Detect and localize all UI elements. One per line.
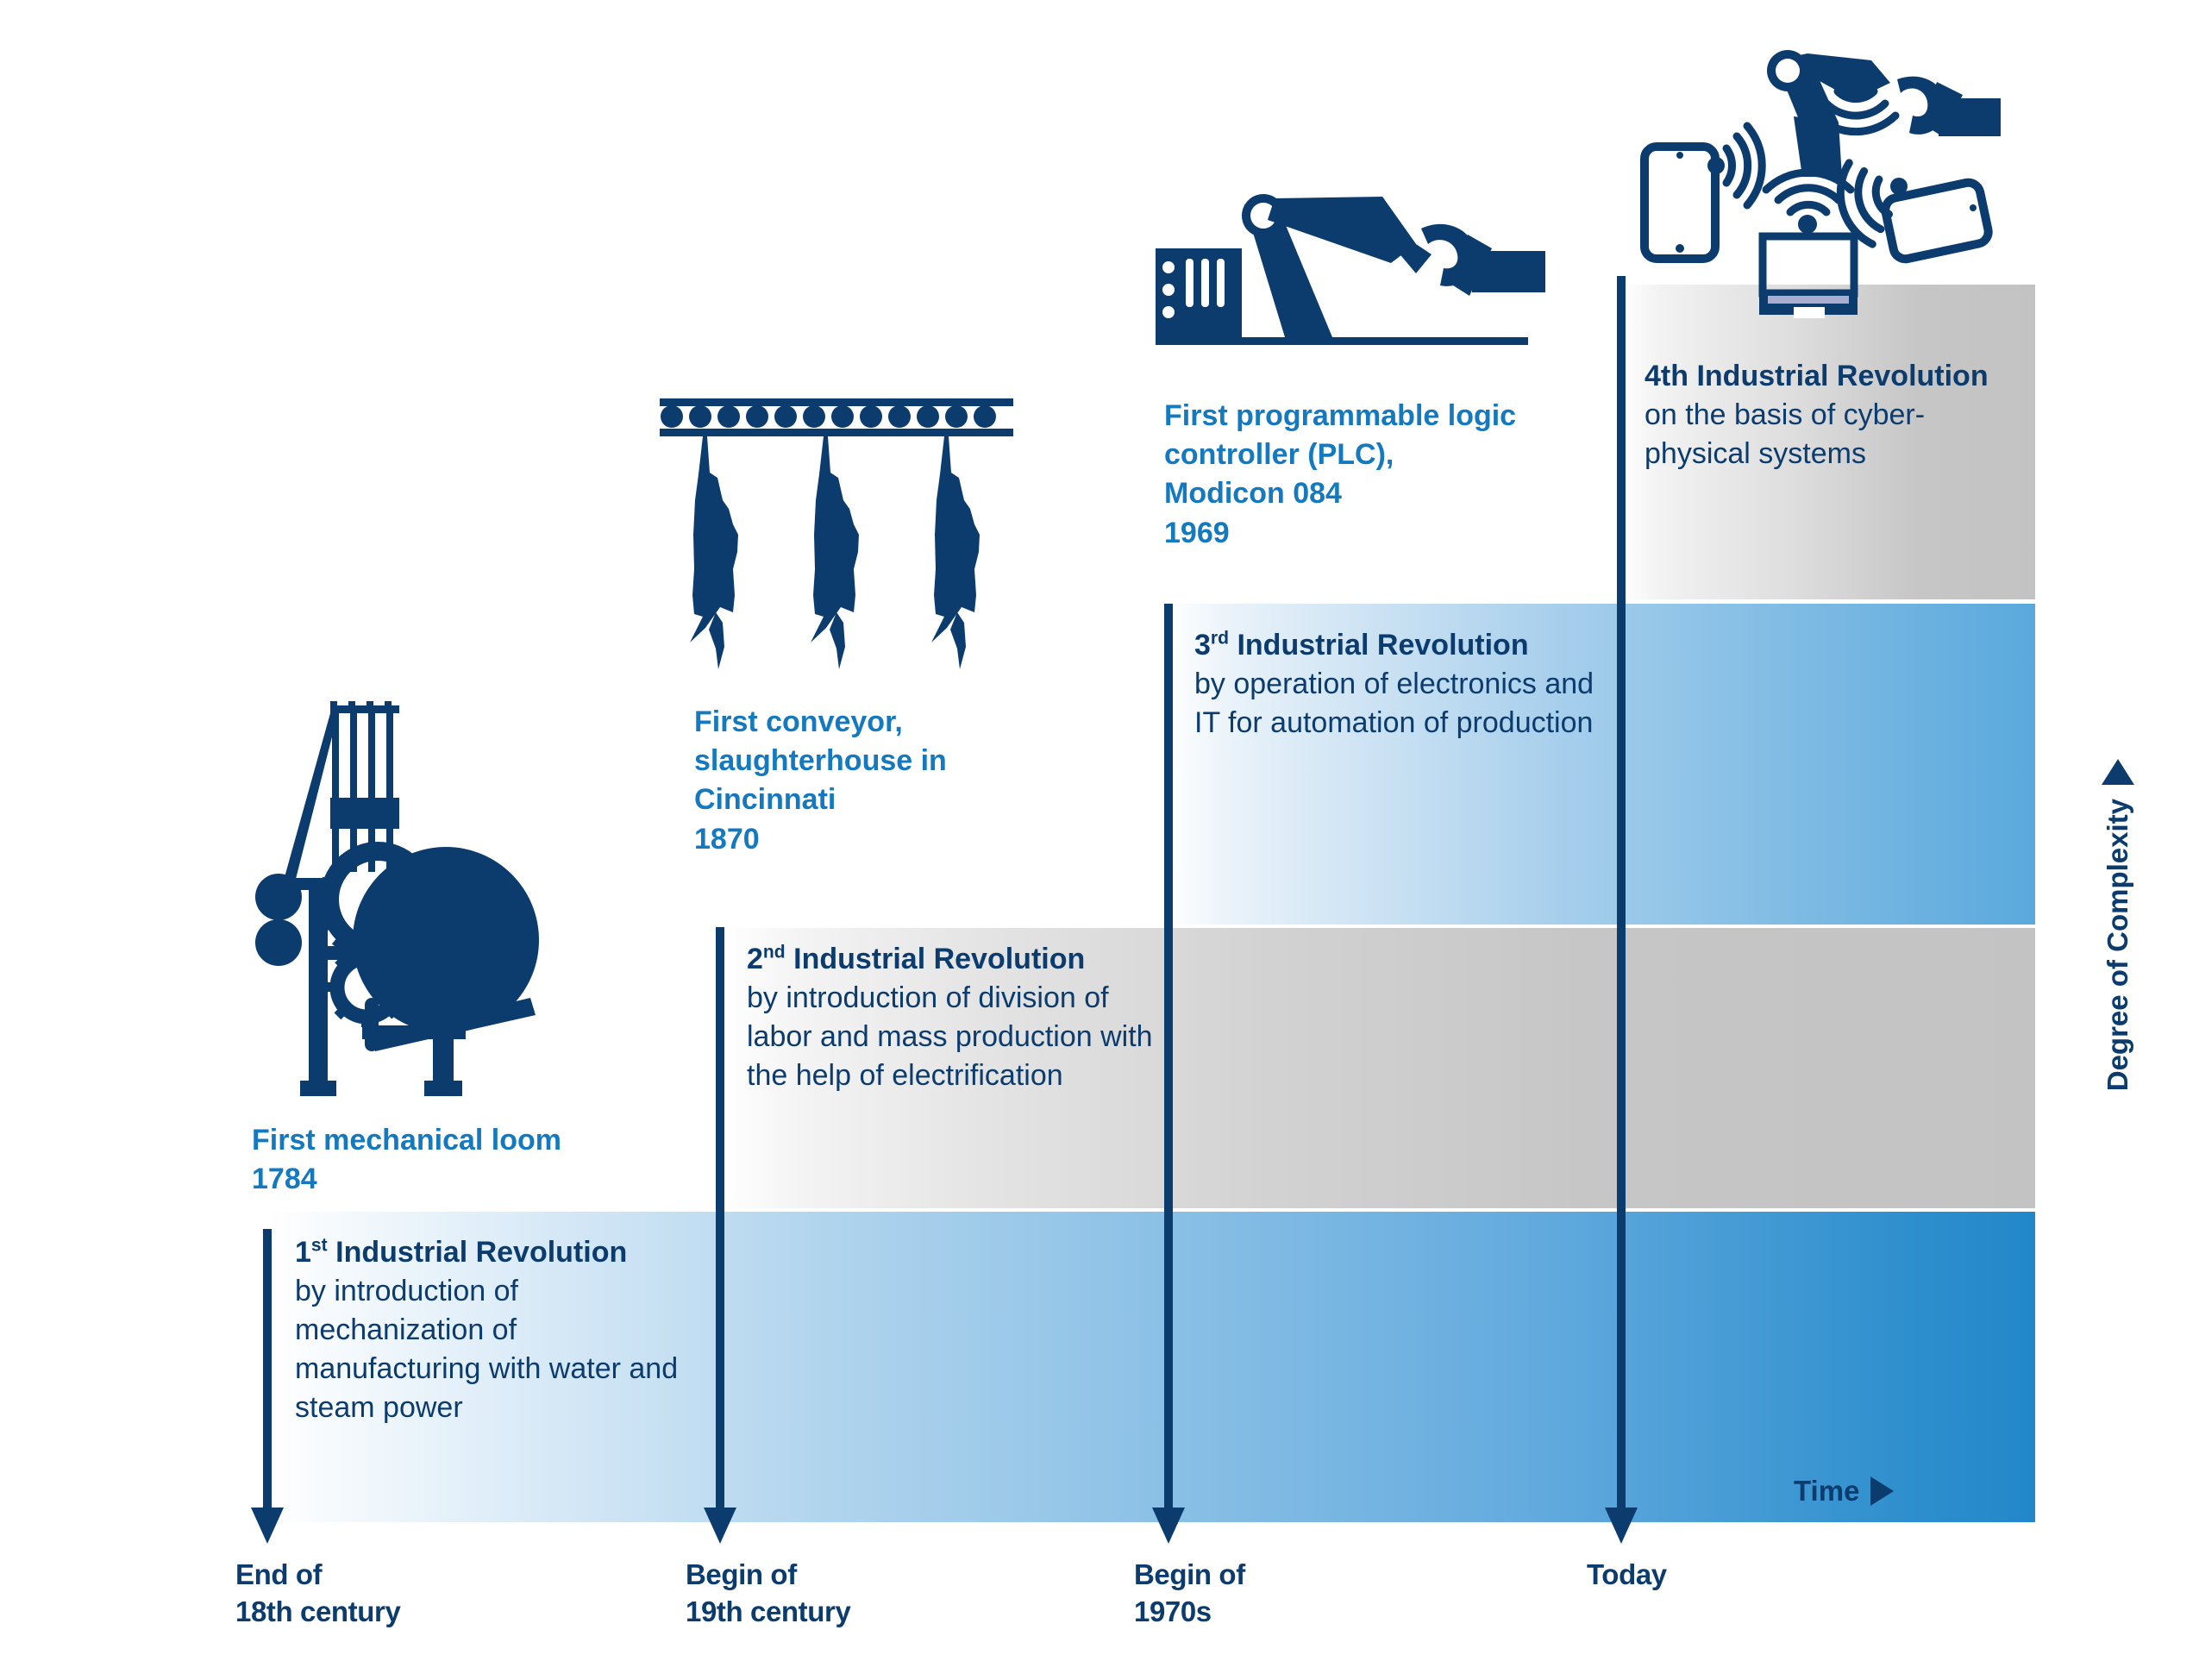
revolution-3-suffix: rd (1211, 629, 1229, 649)
complexity-axis-label: Degree of Complexity (2102, 759, 2134, 1091)
revolution-3-heading: 3rd Industrial Revolution (1194, 626, 1600, 665)
revolution-block-1: 1st Industrial Revolution by introductio… (295, 1233, 709, 1426)
axis-tick-1970s-line2: 1970s (1134, 1594, 1245, 1631)
arrow-head (1605, 1508, 1638, 1544)
event-label-plc-line2: controller (PLC), (1164, 436, 1595, 474)
revolution-4-heading-text: Industrial Revolution (1688, 360, 1989, 392)
timeline-arrow-1784 (263, 1229, 272, 1509)
timeline-arrow-1870 (716, 927, 724, 1509)
time-axis-label: Time (1794, 1475, 1894, 1508)
robot-arm-sub-icon (1767, 50, 2001, 177)
axis-tick-19th-century: Begin of 19th century (686, 1557, 850, 1631)
revolution-2-heading: 2nd Industrial Revolution (747, 940, 1169, 979)
revolution-3-ordinal: 3 (1194, 629, 1211, 661)
cyber-physical-systems-icon (1621, 26, 2035, 336)
revolution-2-body: by introduction of division of labor and… (747, 979, 1169, 1095)
revolution-4-heading: 4th Industrial Revolution (1645, 357, 2007, 396)
axis-tick-19th-century-line2: 19th century (686, 1594, 850, 1631)
revolution-3-body: by operation of electronics and IT for a… (1194, 665, 1600, 743)
revolution-3-heading-text: Industrial Revolution (1229, 629, 1529, 661)
revolution-4-suffix: th (1661, 360, 1688, 392)
revolution-1-heading-text: Industrial Revolution (328, 1236, 628, 1269)
axis-tick-19th-century-line1: Begin of (686, 1557, 850, 1594)
arrow-shaft (263, 1229, 272, 1509)
revolution-2-ordinal: 2 (747, 943, 763, 975)
arrow-head (251, 1508, 284, 1544)
event-label-plc-line1: First programmable logic (1164, 397, 1595, 436)
timeline-arrow-today (1617, 276, 1626, 1509)
event-label-loom-line1: First mechanical loom (252, 1121, 666, 1160)
revolution-2-suffix: nd (763, 943, 786, 962)
event-label-conveyor-line4: 1870 (694, 820, 1039, 859)
arrow-shaft (1617, 276, 1626, 1509)
event-label-conveyor-line1: First conveyor, (694, 703, 1039, 742)
axis-tick-1970s: Begin of 1970s (1134, 1557, 1245, 1631)
revolution-1-heading: 1st Industrial Revolution (295, 1233, 709, 1272)
revolution-1-ordinal: 1 (295, 1236, 311, 1269)
revolution-2-heading-text: Industrial Revolution (786, 943, 1086, 975)
revolution-block-3: 3rd Industrial Revolution by operation o… (1194, 626, 1600, 743)
axis-tick-1970s-line1: Begin of (1134, 1557, 1245, 1594)
axis-tick-today: Today (1587, 1557, 1667, 1594)
complexity-arrow-icon (2102, 759, 2134, 785)
infographic-canvas: First mechanical loom 1784 First conveyo… (0, 0, 2199, 1680)
revolution-4-body: on the basis of cyber-physical systems (1645, 396, 2007, 473)
revolution-block-4: 4th Industrial Revolution on the basis o… (1645, 357, 2007, 473)
arrow-head (1152, 1508, 1185, 1544)
time-axis-text: Time (1794, 1475, 1859, 1508)
smartphone-icon (1645, 147, 1715, 259)
event-label-loom-line2: 1784 (252, 1160, 666, 1199)
conveyor-slaughterhouse-icon (655, 397, 1018, 681)
event-label-conveyor-line2: slaughterhouse in (694, 742, 1039, 780)
time-arrow-icon (1870, 1476, 1894, 1506)
arrow-head (704, 1508, 736, 1544)
revolution-block-2: 2nd Industrial Revolution by introductio… (747, 940, 1169, 1095)
complexity-axis-text: Degree of Complexity (2102, 799, 2134, 1091)
revolution-1-suffix: st (311, 1236, 328, 1256)
event-label-conveyor-line3: Cincinnati (694, 780, 1039, 819)
wifi-wave-icon (1766, 172, 1851, 234)
revolution-1-body: by introduction of mechanization of manu… (295, 1272, 709, 1427)
robot-arm-icon (1147, 194, 1552, 358)
axis-tick-today-line1: Today (1587, 1557, 1667, 1594)
event-label-plc: First programmable logic controller (PLC… (1164, 397, 1595, 553)
axis-tick-18th-century-line2: 18th century (235, 1594, 400, 1631)
mechanical-loom-icon (241, 694, 586, 1108)
monitor-icon (1759, 236, 1858, 318)
event-label-plc-line4: 1969 (1164, 514, 1595, 553)
arrow-shaft (716, 927, 724, 1509)
revolution-4-ordinal: 4 (1645, 360, 1661, 392)
axis-tick-18th-century: End of 18th century (235, 1557, 400, 1631)
axis-tick-18th-century-line1: End of (235, 1557, 400, 1594)
event-label-conveyor: First conveyor, slaughterhouse in Cincin… (694, 703, 1039, 859)
event-label-plc-line3: Modicon 084 (1164, 474, 1595, 513)
event-label-loom: First mechanical loom 1784 (252, 1121, 666, 1199)
